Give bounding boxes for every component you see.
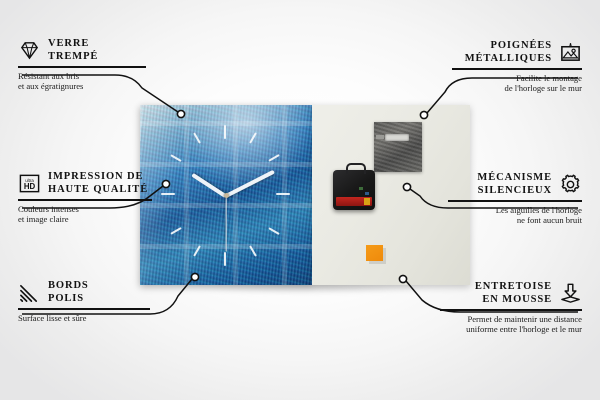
clock-front-panel [140, 105, 312, 285]
clock-back-panel [312, 105, 470, 285]
mechanism-detail [359, 187, 363, 190]
callout-title: ENTRETOISE EN MOUSSE [475, 281, 552, 306]
diamond-icon [18, 39, 41, 62]
callout-poignees-metalliques: POIGNÉES MÉTALLIQUES Facilite le montage… [452, 40, 582, 93]
callout-desc-line: et aux égratignures [18, 81, 146, 91]
callout-desc-line: ne font aucun bruit [448, 215, 582, 225]
callout-divider [448, 200, 582, 202]
callout-desc-line: Facilite le montage [452, 73, 582, 83]
metal-hanger-plate [374, 122, 422, 172]
callout-desc-line: de l'horloge sur le mur [452, 83, 582, 93]
callout-mecanisme-silencieux: MÉCANISME SILENCIEUX Les aiguilles de l'… [448, 172, 582, 225]
callout-header: BORDS POLIS [18, 280, 150, 305]
callout-desc-line: Couleurs intenses [18, 204, 152, 214]
polished-edge-hatch-icon [18, 281, 41, 304]
picture-frame-hanging-icon [559, 41, 582, 64]
product-photo [140, 105, 470, 285]
callout-impression-haute-qualite: ultra HD IMPRESSION DE HAUTE QUALITÉ Cou… [18, 171, 152, 224]
ultra-hd-icon: ultra HD [18, 172, 41, 195]
callout-title: MÉCANISME SILENCIEUX [477, 172, 552, 197]
second-hand [225, 196, 226, 252]
callout-header: ultra HD IMPRESSION DE HAUTE QUALITÉ [18, 171, 152, 196]
callout-header: POIGNÉES MÉTALLIQUES [452, 40, 582, 65]
callout-title: BORDS POLIS [48, 280, 89, 305]
arrow-down-onto-layers-icon [559, 282, 582, 305]
callout-header: MÉCANISME SILENCIEUX [448, 172, 582, 197]
callout-bords-polis: BORDS POLIS Surface lisse et sûre [18, 280, 150, 323]
callout-entretoise-en-mousse: ENTRETOISE EN MOUSSE Permet de maintenir… [440, 281, 582, 334]
callout-desc-line: Permet de maintenir une distance [440, 314, 582, 324]
callout-divider [452, 68, 582, 70]
callout-divider [18, 199, 152, 201]
mechanism-detail [365, 192, 369, 195]
callout-desc-line: Résistant aux bris [18, 71, 146, 81]
hanger-slot [385, 134, 409, 141]
infographic-canvas: VERRE TREMPÉ Résistant aux bris et aux é… [0, 0, 600, 400]
callout-title: VERRE TREMPÉ [48, 38, 98, 63]
callout-title: POIGNÉES MÉTALLIQUES [465, 40, 552, 65]
foam-spacer [366, 245, 383, 261]
callout-desc-line: uniforme entre l'horloge et le mur [440, 324, 582, 334]
callout-desc-line: et image claire [18, 214, 152, 224]
hand-center-cap [224, 193, 229, 198]
callout-desc-line: Surface lisse et sûre [18, 313, 150, 323]
callout-desc-line: Les aiguilles de l'horloge [448, 205, 582, 215]
callout-header: ENTRETOISE EN MOUSSE [440, 281, 582, 306]
callout-divider [18, 66, 146, 68]
callout-divider [18, 308, 150, 310]
clock-mechanism [333, 170, 375, 210]
battery [336, 197, 372, 206]
callout-title: IMPRESSION DE HAUTE QUALITÉ [48, 171, 148, 196]
callout-divider [440, 309, 582, 311]
mechanism-lug [346, 163, 366, 174]
callout-header: VERRE TREMPÉ [18, 38, 146, 63]
gear-icon [559, 173, 582, 196]
svg-text:HD: HD [24, 182, 36, 191]
callout-verre-trempe: VERRE TREMPÉ Résistant aux bris et aux é… [18, 38, 146, 91]
